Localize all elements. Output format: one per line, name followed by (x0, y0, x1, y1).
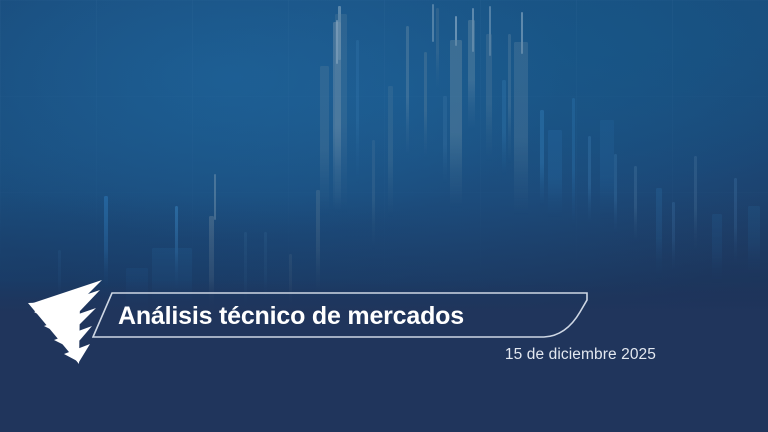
title-slide: Análisis técnico de mercados 15 de dicie… (0, 0, 768, 432)
page-title: Análisis técnico de mercados (118, 300, 558, 332)
slide-date: 15 de diciembre 2025 (0, 346, 656, 364)
title-lockup: Análisis técnico de mercados 15 de dicie… (0, 272, 768, 384)
